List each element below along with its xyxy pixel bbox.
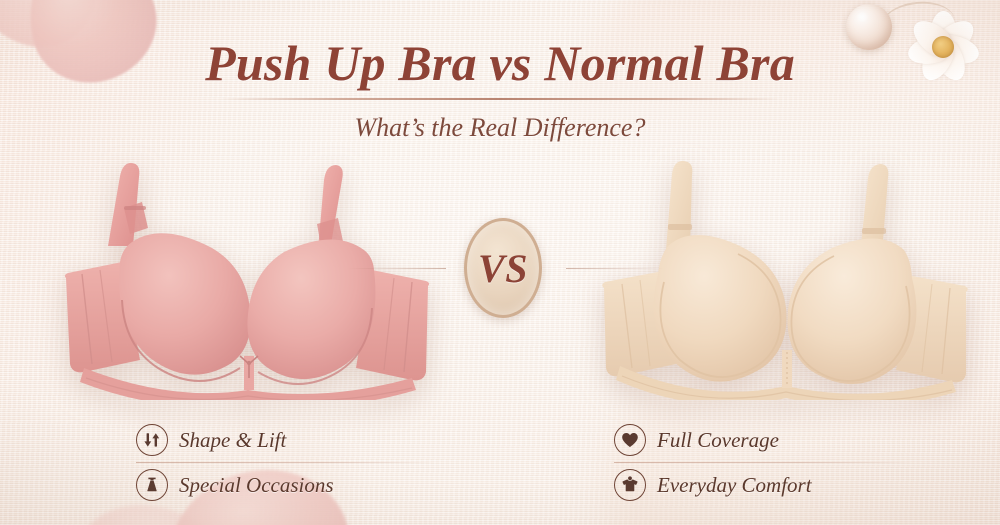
feature-label: Full Coverage: [657, 428, 779, 452]
heart-icon: [614, 424, 646, 456]
product-image-push-up-bra: [62, 150, 432, 400]
arrows-up-down-icon: [136, 424, 168, 456]
feature-item-full-coverage[interactable]: Full Coverage: [614, 418, 944, 462]
vs-rule-left: [348, 268, 446, 269]
vs-badge: VS: [464, 218, 542, 318]
product-image-normal-bra: [600, 150, 970, 400]
feature-item-everyday-comfort[interactable]: Everyday Comfort: [614, 463, 944, 507]
vs-rule-right: [566, 268, 664, 269]
vs-label: VS: [478, 245, 528, 292]
page-title: Push Up Bra vs Normal Bra: [0, 34, 1000, 92]
feature-list-normal-bra: Full Coverage Everyday Comfort: [614, 418, 944, 507]
page-subtitle: What’s the Real Difference?: [0, 112, 1000, 144]
header: Push Up Bra vs Normal Bra What’s the Rea…: [0, 34, 1000, 144]
feature-label: Shape & Lift: [179, 428, 286, 452]
dress-icon: [136, 469, 168, 501]
feature-label: Special Occasions: [179, 473, 334, 497]
pearl-highlight: [856, 12, 869, 22]
infographic-canvas: Push Up Bra vs Normal Bra What’s the Rea…: [0, 0, 1000, 525]
tshirt-icon: [614, 469, 646, 501]
feature-label: Everyday Comfort: [657, 473, 812, 497]
feature-list-push-up-bra: Shape & Lift Special Occasions: [136, 418, 466, 507]
title-divider: [220, 98, 780, 100]
feature-item-special-occasions[interactable]: Special Occasions: [136, 463, 466, 507]
feature-item-shape-lift[interactable]: Shape & Lift: [136, 418, 466, 462]
